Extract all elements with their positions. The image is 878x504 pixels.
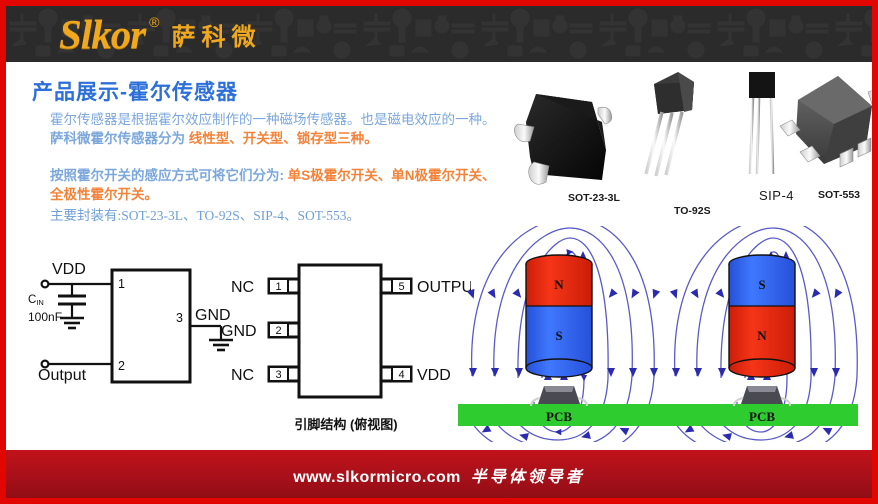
description-line-3: 按照霍尔开关的感应方式可将它们分为: 单S极霍尔开关、单N极霍尔开关、 xyxy=(50,166,496,185)
brand-logo-text: Slkor xyxy=(59,14,145,55)
package-sip4-image xyxy=(749,72,775,174)
pin-label-nc-3: NC xyxy=(231,367,254,384)
registered-trademark-icon: ® xyxy=(149,14,159,30)
package-sot23-image xyxy=(514,94,611,184)
package-sot553-image xyxy=(780,76,872,167)
description-line-3-highlight: 单S极霍尔开关、单N极霍尔开关、 xyxy=(288,168,496,183)
field-diagram-left: PCB N S xyxy=(458,226,660,442)
description-line-1: 霍尔传感器是根据霍尔效应制作的一种磁场传感器。也是磁电效应的一种。 xyxy=(50,110,496,129)
description-line-2-prefix: 萨科微霍尔传感器分为 xyxy=(50,131,185,146)
hall-sensor-left xyxy=(531,386,587,406)
footer-slogan: 半导体领导者 xyxy=(471,463,585,487)
description-line-5: 主要封装有:SOT-23-3L、TO-92S、SIP-4、SOT-553。 xyxy=(50,206,360,225)
slide-page: Slkor ® 萨科微 产品展示-霍尔传感器 霍尔传感器是根据霍尔效应制作的一种… xyxy=(0,0,878,504)
pin-label-gnd: GND xyxy=(221,323,257,340)
pin-structure-drawing: 1 2 3 5 4 NC GND NC OUTPUT VDD xyxy=(221,257,471,422)
field-diagram-right: PCB S N xyxy=(658,226,858,442)
description-line-3-prefix: 按照霍尔开关的感应方式可将它们分为: xyxy=(50,168,284,183)
footer-content: www.slkormicro.com 半导体领导者 xyxy=(293,463,585,487)
description-line-4: 全极性霍尔开关。 xyxy=(50,185,158,204)
circuit-schematic: VDD CIN 100nF Output 1 2 3 GND xyxy=(16,252,246,402)
package-photos: SOT-23-3L TO-92S SIP-4 SOT-553 xyxy=(506,62,872,222)
circuit-cap-value: 100nF xyxy=(28,310,62,324)
magnet-right: S N xyxy=(729,255,795,377)
circuit-cap-name: CIN xyxy=(28,294,44,307)
magnet-left: N S xyxy=(526,255,592,377)
magnetic-field-diagrams: PCB N S xyxy=(458,226,872,442)
magnet-left-north: N xyxy=(554,277,564,292)
pin-number-1: 1 xyxy=(275,281,281,293)
brand-logo-chinese: 萨科微 xyxy=(171,17,261,52)
pin-structure-caption: 引脚结构 (俯视图) xyxy=(256,414,436,433)
pin-label-nc-1: NC xyxy=(231,279,254,296)
circuit-output-label: Output xyxy=(38,367,87,384)
pcb-label-right: PCB xyxy=(749,409,775,424)
description-line-1-text: 霍尔传感器是根据霍尔效应制作的一种磁场传感器。也是磁电效应的一种。 xyxy=(50,112,496,127)
description-line-2: 萨科微霍尔传感器分为 线性型、开关型、锁存型三种。 xyxy=(50,129,378,148)
circuit-vdd-label: VDD xyxy=(52,261,86,278)
field-illustration: PCB N S xyxy=(458,226,872,442)
pin-number-2: 2 xyxy=(275,325,281,337)
hall-sensor-right xyxy=(734,386,790,406)
magnet-left-south: S xyxy=(555,328,562,343)
pin-label-vdd: VDD xyxy=(417,367,451,384)
description-line-5-text: 主要封装有:SOT-23-3L、TO-92S、SIP-4、SOT-553。 xyxy=(50,208,360,223)
page-footer: www.slkormicro.com 半导体领导者 xyxy=(6,448,872,498)
footer-website-url[interactable]: www.slkormicro.com xyxy=(293,469,461,487)
pin-number-3: 3 xyxy=(275,369,281,381)
circuit-pin-3: 3 xyxy=(176,311,183,325)
pin-number-5: 5 xyxy=(398,281,404,293)
package-label-to92s: TO-92S xyxy=(674,205,711,217)
package-label-sot553: SOT-553 xyxy=(818,189,860,201)
brand-logo: Slkor ® 萨科微 xyxy=(59,10,261,58)
page-header: Slkor ® 萨科微 xyxy=(6,6,872,62)
circuit-pin-1: 1 xyxy=(118,277,125,291)
package-label-sip4: SIP-4 xyxy=(759,188,794,203)
package-to92s-image xyxy=(646,72,694,176)
magnet-right-north: N xyxy=(757,328,767,343)
application-circuit-diagram: VDD CIN 100nF Output 1 2 3 GND xyxy=(16,252,246,402)
pcb-label-left: PCB xyxy=(546,409,572,424)
pin-structure-diagram: 1 2 3 5 4 NC GND NC OUTPUT VDD xyxy=(221,257,471,422)
description-line-4-highlight: 全极性霍尔开关。 xyxy=(50,187,158,202)
description-line-2-highlight: 线性型、开关型、锁存型三种。 xyxy=(189,131,378,146)
page-title: 产品展示-霍尔传感器 xyxy=(32,76,238,106)
pin-number-4: 4 xyxy=(398,369,404,381)
magnet-right-south: S xyxy=(758,277,765,292)
slide-inner: Slkor ® 萨科微 产品展示-霍尔传感器 霍尔传感器是根据霍尔效应制作的一种… xyxy=(6,6,872,498)
page-content: 产品展示-霍尔传感器 霍尔传感器是根据霍尔效应制作的一种磁场传感器。也是磁电效应… xyxy=(6,62,872,442)
circuit-pin-2: 2 xyxy=(118,359,125,373)
package-label-sot23: SOT-23-3L xyxy=(568,192,620,204)
